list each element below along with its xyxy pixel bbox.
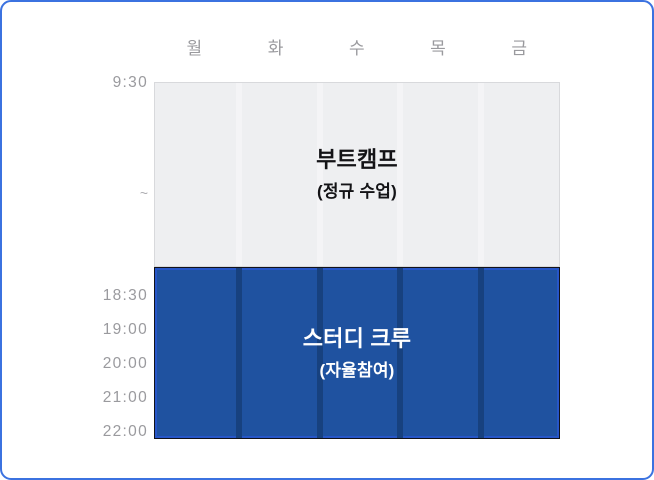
bootcamp-subtitle: (정규 수업) [317,183,397,200]
day-header-thu-label: 목 [430,40,446,57]
day-header-mon: 월 [154,30,235,66]
time-label-1830: 18:30 [103,288,148,304]
time-label-2200: 22:00 [103,424,148,440]
day-header-thu: 목 [398,30,479,66]
time-label-1900: 19:00 [103,322,148,338]
bootcamp-title: 부트캠프 [316,149,398,171]
day-header-fri: 금 [479,30,560,66]
day-header-wed-label: 수 [349,40,365,57]
schedule-block-bootcamp-text: 부트캠프 (정규 수업) [155,83,559,266]
time-range-tilde: ~ [140,186,148,200]
study-crew-title: 스터디 크루 [303,328,412,350]
schedule-block-bootcamp[interactable]: 부트캠프 (정규 수업) [154,82,560,267]
study-crew-subtitle: (자율참여) [319,362,394,379]
time-axis: 9:30 ~ 18:30 19:00 20:00 21:00 22:00 [62,68,148,448]
schedule-block-study-crew[interactable]: 스터디 크루 (자율참여) [154,267,560,439]
day-header-wed: 수 [316,30,397,66]
time-label-2100: 21:00 [103,390,148,406]
schedule-grid: 부트캠프 (정규 수업) 스터디 크루 (자율참여) [154,82,560,439]
day-header-tue: 화 [235,30,316,66]
day-header-mon-label: 월 [187,40,203,57]
weekly-schedule-card: 월 화 수 목 금 9:30 ~ 18:30 19:00 20:00 21:00… [0,0,654,480]
time-label-0930: 9:30 [113,75,148,91]
time-label-2000: 20:00 [103,356,148,372]
day-header-tue-label: 화 [268,40,284,57]
schedule-block-study-crew-text: 스터디 크루 (자율참여) [155,268,559,438]
day-header-row: 월 화 수 목 금 [154,30,560,66]
day-header-fri-label: 금 [511,40,527,57]
